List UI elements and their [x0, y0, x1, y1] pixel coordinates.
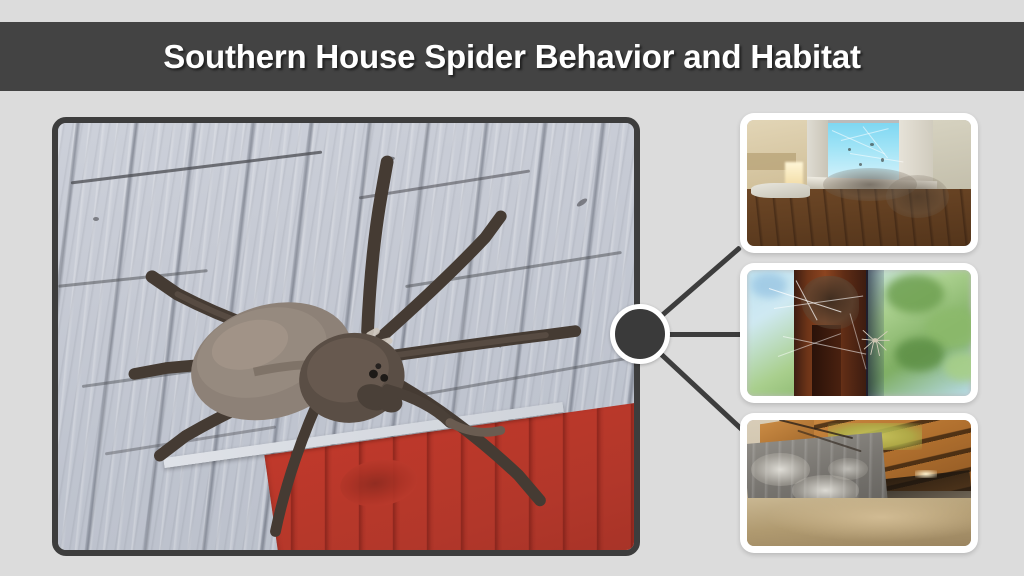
habitat-hub-node[interactable]	[610, 304, 670, 364]
habitat-thumbnail-crawl-space[interactable]	[740, 413, 978, 553]
small-spider-on-web	[846, 325, 904, 358]
main-image-frame[interactable]	[52, 117, 640, 556]
thumbnail-image-window-sill	[747, 120, 971, 246]
spider-illustration	[58, 123, 634, 550]
habitat-thumbnail-window-sill[interactable]	[740, 113, 978, 253]
title-bar: Southern House Spider Behavior and Habit…	[0, 22, 1024, 91]
main-image	[58, 123, 634, 550]
thumbnail-image-wooden-post	[747, 270, 971, 396]
habitat-thumbnail-wooden-post[interactable]	[740, 263, 978, 403]
slide-canvas: Southern House Spider Behavior and Habit…	[0, 0, 1024, 576]
thumbnail-image-crawl-space	[747, 420, 971, 546]
page-title: Southern House Spider Behavior and Habit…	[163, 38, 861, 76]
